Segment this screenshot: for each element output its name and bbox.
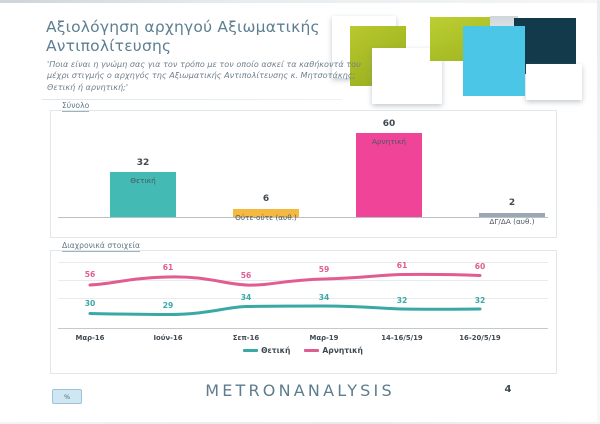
point-label-positive: 32	[397, 296, 408, 305]
cyan-square	[463, 26, 525, 96]
point-label-negative: 60	[475, 262, 486, 271]
point-label-negative: 61	[163, 263, 174, 272]
legend-label: Θετική	[261, 346, 290, 355]
page-number: 4	[498, 384, 518, 395]
line-positive	[90, 306, 480, 315]
bar-group-dontknow[interactable]: 2 ΔΓ/ΔΑ (αυθ.)	[479, 213, 545, 217]
trend-panel-label: Διαχρονικά στοιχεία	[62, 241, 140, 252]
x-axis-label: Μαρ-19	[310, 334, 339, 342]
x-axis-label: 16-20/5/19	[459, 334, 500, 342]
legend-item-negative[interactable]: Αρνητική	[304, 346, 363, 355]
bar-group-negative[interactable]: 60 Αρνητική	[356, 133, 422, 217]
bar-category-label: Ούτε-ούτε (αυθ.)	[211, 213, 321, 222]
point-label-negative: 56	[85, 270, 96, 279]
bar-value: 6	[233, 194, 299, 204]
point-label-negative: 61	[397, 261, 408, 270]
bar-category-label: Αρνητική	[334, 137, 444, 146]
slide-header: Αξιολόγηση αρχηγού Αξιωματικής Αντιπολίτ…	[0, 4, 600, 100]
legend-swatch-negative	[304, 349, 319, 352]
bar-value: 32	[110, 158, 176, 168]
point-label-positive: 29	[163, 301, 174, 310]
header-divider	[42, 99, 342, 100]
bar-value: 60	[356, 119, 422, 129]
point-label-positive: 32	[475, 296, 486, 305]
question-subtitle: 'Ποια είναι η γνώμη σας για τον τρόπο με…	[47, 59, 362, 93]
line-chart: 56 61 56 59 61 60 30 29 34 34 32 32 Μαρ-…	[58, 258, 548, 336]
bar-group-positive[interactable]: 32 Θετική	[110, 172, 176, 217]
page-title: Αξιολόγηση αρχηγού Αξιωματικής Αντιπολίτ…	[46, 18, 376, 56]
bar-category-label: Θετική	[88, 176, 198, 185]
total-panel-label: Σύνολο	[62, 101, 89, 112]
legend-swatch-positive	[243, 349, 258, 352]
legend-item-positive[interactable]: Θετική	[243, 346, 290, 355]
bar-value: 2	[479, 198, 545, 208]
x-axis-label: Ιούν-16	[153, 334, 182, 342]
point-label-negative: 59	[319, 265, 330, 274]
slide: Αξιολόγηση αρχηγού Αξιωματικής Αντιπολίτ…	[0, 0, 600, 424]
bar-group-neither[interactable]: 6 Ούτε-ούτε (αυθ.)	[233, 209, 299, 217]
legend-label: Αρνητική	[322, 346, 363, 355]
point-label-positive: 34	[319, 293, 330, 302]
x-axis-label: Μαρ-16	[76, 334, 105, 342]
point-label-positive: 34	[241, 293, 252, 302]
x-axis-label: 14-16/5/19	[381, 334, 422, 342]
white-card-3	[526, 64, 582, 100]
page-edge-top	[0, 0, 600, 3]
line-negative	[90, 274, 480, 285]
point-label-negative: 56	[241, 271, 252, 280]
point-label-positive: 30	[85, 299, 96, 308]
x-axis-label: Σεπ-16	[233, 334, 259, 342]
bar-category-label: ΔΓ/ΔΑ (αυθ.)	[457, 217, 567, 226]
chart-legend: Θετική Αρνητική	[58, 346, 548, 355]
bar-chart: 32 Θετική 6 Ούτε-ούτε (αυθ.) 60 Αρνητική…	[58, 118, 548, 218]
